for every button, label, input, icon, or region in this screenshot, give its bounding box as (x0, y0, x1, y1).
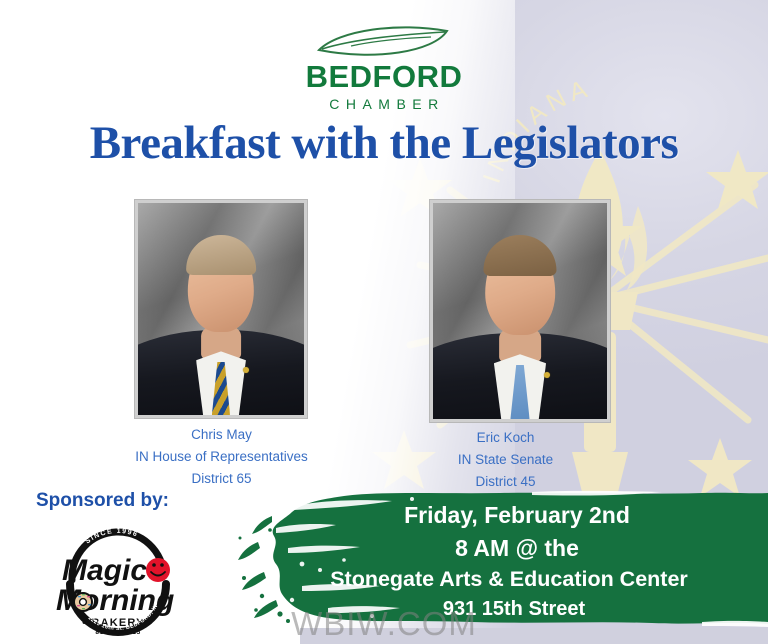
chris-may-photo (135, 200, 307, 418)
page-title: Breakfast with the Legislators (0, 116, 768, 170)
bakery-word-magic: Magic (62, 554, 147, 587)
chamber-name: BEDFORD (306, 61, 463, 94)
chamber-subtitle: CHAMBER (323, 96, 445, 112)
legislator-name: Chris May (104, 424, 339, 446)
bedford-chamber-logo: BEDFORD CHAMBER (0, 26, 768, 112)
legislator-name: Eric Koch (413, 427, 598, 449)
wbiw-watermark: WBIW.COM (0, 605, 768, 643)
eric-koch-photo (430, 200, 610, 422)
legislator-district: District 65 (104, 468, 339, 490)
legislator-office: IN House of Representatives (104, 446, 339, 468)
sponsored-by-label: Sponsored by: (36, 490, 169, 512)
poster-canvas: INDIANA BEDFORD CHAMBER Breakfast with t… (0, 0, 768, 644)
eric-koch-caption: Eric Koch IN State Senate District 45 (413, 427, 598, 493)
legislator-office: IN State Senate (413, 449, 598, 471)
chris-may-caption: Chris May IN House of Representatives Di… (104, 424, 339, 490)
leaf-icon (313, 26, 455, 60)
